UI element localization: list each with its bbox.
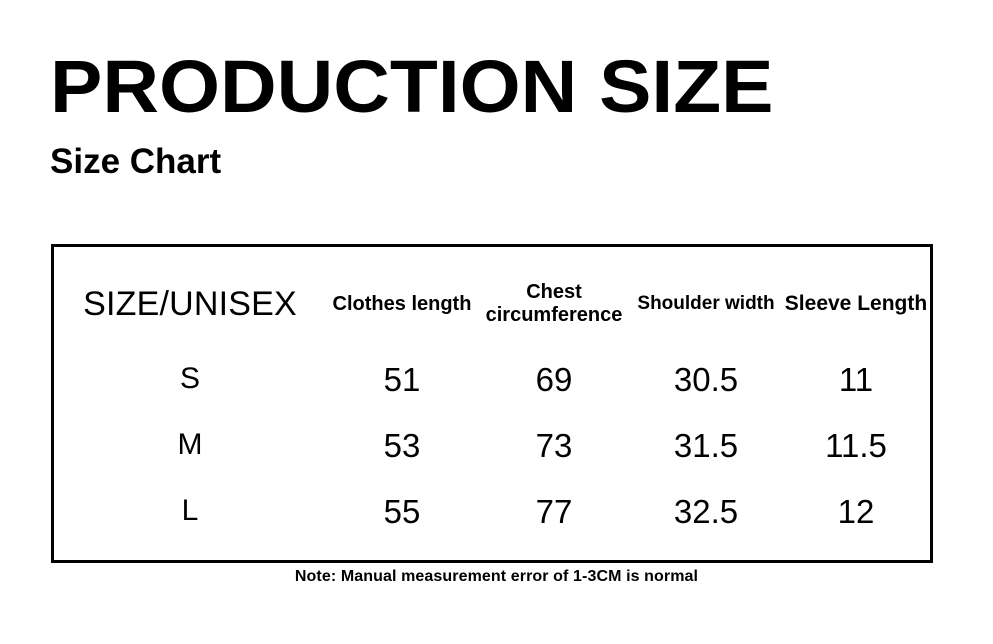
- cell-size: S: [54, 364, 326, 394]
- cell-size: L: [54, 496, 326, 526]
- cell-sleeve-length: 11.5: [782, 429, 930, 462]
- cell-chest-circumference: 73: [478, 429, 630, 462]
- column-header-size: SIZE/UNISEX: [54, 285, 326, 324]
- cell-clothes-length: 51: [326, 363, 478, 396]
- column-header-sleeve-length: Sleeve Length: [782, 292, 930, 316]
- table-row: S 51 69 30.5 11: [54, 351, 930, 407]
- size-chart-table-inner: SIZE/UNISEX Clothes length Chest circumf…: [54, 247, 930, 560]
- cell-shoulder-width: 32.5: [630, 495, 782, 528]
- column-header-shoulder-width-label: Shoulder width: [630, 293, 782, 315]
- column-header-chest-line1: Chest: [478, 281, 630, 304]
- table-header-row: SIZE/UNISEX Clothes length Chest circumf…: [54, 273, 930, 335]
- title-block: PRODUCTION SIZE Size Chart: [50, 52, 940, 179]
- page-subtitle: Size Chart: [50, 122, 940, 179]
- size-chart-table: SIZE/UNISEX Clothes length Chest circumf…: [51, 244, 933, 563]
- cell-sleeve-length: 11: [782, 363, 930, 396]
- cell-sleeve-length: 12: [782, 495, 930, 528]
- size-chart-page: PRODUCTION SIZE Size Chart SIZE/UNISEX C…: [0, 0, 993, 644]
- table-row: L 55 77 32.5 12: [54, 483, 930, 539]
- cell-clothes-length: 53: [326, 429, 478, 462]
- cell-chest-circumference: 77: [478, 495, 630, 528]
- cell-chest-circumference: 69: [478, 363, 630, 396]
- column-header-sleeve-length-label: Sleeve Length: [782, 292, 930, 316]
- measurement-note: Note: Manual measurement error of 1-3CM …: [0, 568, 993, 586]
- cell-shoulder-width: 30.5: [630, 363, 782, 396]
- column-header-chest-line2: circumference: [478, 304, 630, 327]
- column-header-chest-circumference: Chest circumference: [478, 281, 630, 327]
- cell-size: M: [54, 430, 326, 460]
- column-header-clothes-length: Clothes length: [326, 293, 478, 316]
- page-title: PRODUCTION SIZE: [50, 52, 993, 122]
- column-header-clothes-length-label: Clothes length: [326, 293, 478, 316]
- table-row: M 53 73 31.5 11.5: [54, 417, 930, 473]
- cell-shoulder-width: 31.5: [630, 429, 782, 462]
- cell-clothes-length: 55: [326, 495, 478, 528]
- column-header-shoulder-width: Shoulder width: [630, 293, 782, 315]
